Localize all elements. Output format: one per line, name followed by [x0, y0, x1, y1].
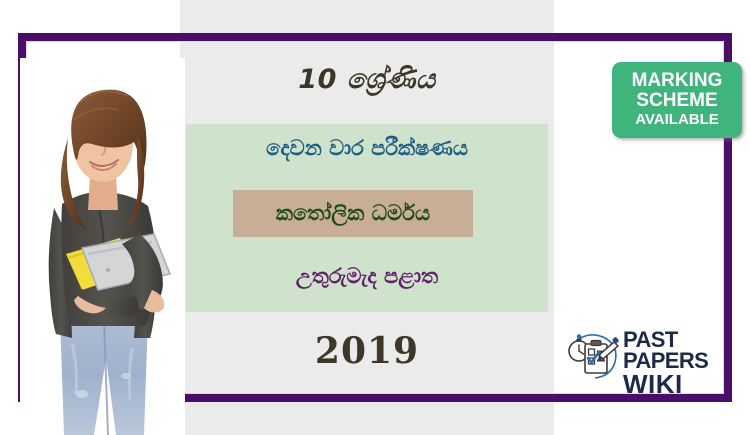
student-photo	[20, 58, 185, 435]
badge-line-2: SCHEME	[612, 91, 742, 111]
marking-scheme-badge: MARKING SCHEME AVAILABLE	[612, 62, 742, 138]
logo-wordmark: PAST PAPERS WIKI	[623, 330, 735, 396]
logo-title-top: PAST PAPERS	[623, 330, 735, 372]
badge-line-1: MARKING	[612, 71, 742, 91]
badge-line-3: AVAILABLE	[612, 112, 742, 128]
past-paper-cover: 10 ශ්‍රේණිය දෙවන වාර පරීක්ෂණය කතෝලික ධර්…	[0, 0, 750, 435]
logo-title-bottom: WIKI	[623, 372, 735, 397]
past-papers-wiki-logo: PAST PAPERS WIKI	[565, 326, 733, 384]
stopwatch-clipboard-pen-icon	[565, 328, 621, 380]
